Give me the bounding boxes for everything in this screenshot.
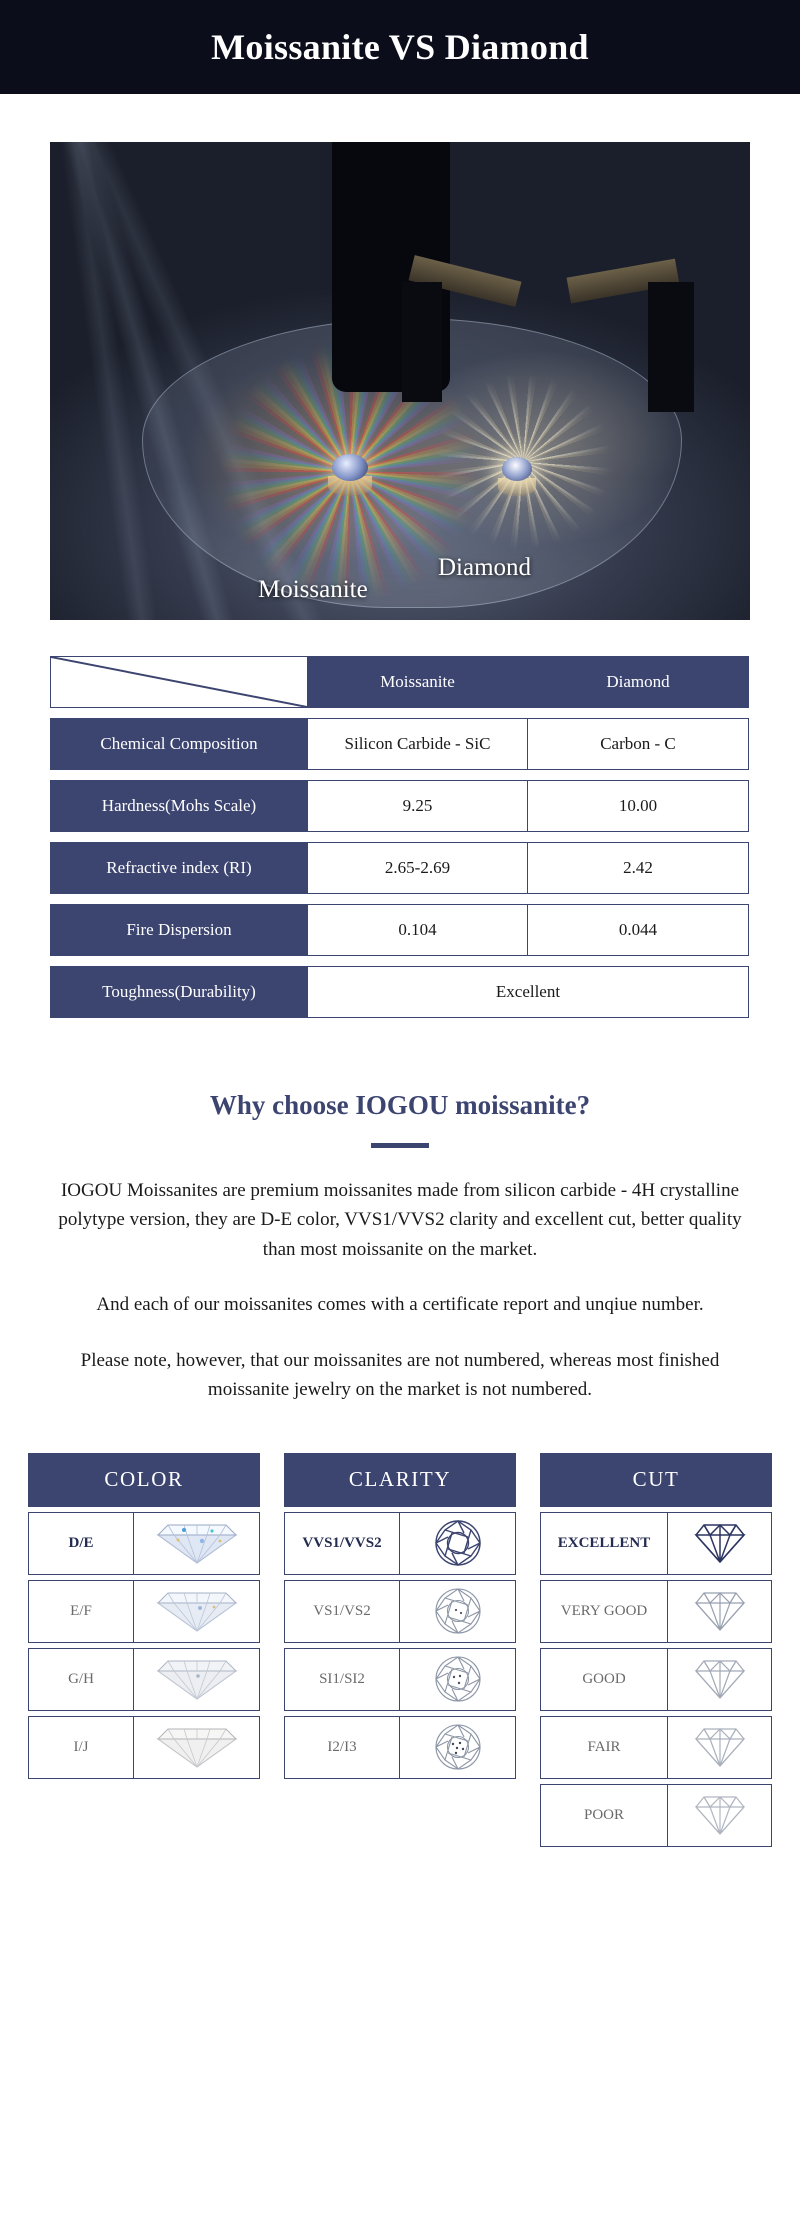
row-value-diamond: 10.00: [527, 780, 749, 832]
why-choose-section: Why choose IOGOU moissanite? IOGOU Moiss…: [0, 1028, 800, 1405]
row-label: Toughness(Durability): [50, 966, 308, 1018]
row-value-moissanite: Silicon Carbide - SiC: [307, 718, 528, 770]
diamond-outline-icon: [667, 1784, 772, 1847]
grade-row: VS1/VS2: [284, 1580, 516, 1643]
grade-table-cut: CUT EXCELLENT VERY GOOD: [540, 1453, 772, 1847]
grade-label: SI1/SI2: [284, 1648, 400, 1711]
diamond-side-view-icon: [133, 1512, 260, 1575]
row-value-shared: Excellent: [307, 966, 749, 1018]
grade-row: G/H: [28, 1648, 260, 1711]
grade-row: I2/I3: [284, 1716, 516, 1779]
hero-label-diamond: Diamond: [438, 554, 531, 582]
row-label: Refractive index (RI): [50, 842, 308, 894]
grade-row: POOR: [540, 1784, 772, 1847]
grade-row: I/J: [28, 1716, 260, 1779]
diagonal-divider-icon: [50, 656, 308, 708]
table-row: Refractive index (RI) 2.65-2.69 2.42: [50, 842, 750, 894]
diamond-side-view-icon: [133, 1580, 260, 1643]
grade-label: POOR: [540, 1784, 668, 1847]
moissanite-gem: [332, 454, 368, 481]
diamond-top-view-icon: [399, 1716, 516, 1779]
grade-row: VVS1/VVS2: [284, 1512, 516, 1575]
row-label: Fire Dispersion: [50, 904, 308, 956]
grade-label: FAIR: [540, 1716, 668, 1779]
page-header: Moissanite VS Diamond: [0, 0, 800, 94]
grade-row: EXCELLENT: [540, 1512, 772, 1575]
grade-label: EXCELLENT: [540, 1512, 668, 1575]
hero-section: Moissanite Diamond: [0, 94, 800, 620]
table-row: Hardness(Mohs Scale) 9.25 10.00: [50, 780, 750, 832]
grade-table-title: CLARITY: [284, 1453, 516, 1507]
table-header-row: Moissanite Diamond: [50, 656, 750, 708]
section-heading: Why choose IOGOU moissanite?: [50, 1090, 750, 1121]
grade-row: VERY GOOD: [540, 1580, 772, 1643]
diamond-outline-icon: [667, 1648, 772, 1711]
why-paragraph: IOGOU Moissanites are premium moissanite…: [50, 1176, 750, 1264]
row-value-diamond: Carbon - C: [527, 718, 749, 770]
diamond-outline-icon: [667, 1512, 772, 1575]
why-paragraph: Please note, however, that our moissanit…: [50, 1346, 750, 1405]
microscope-post-right: [648, 282, 694, 412]
diamond-side-view-icon: [133, 1648, 260, 1711]
grade-table-title: COLOR: [28, 1453, 260, 1507]
row-value-diamond: 2.42: [527, 842, 749, 894]
column-header-moissanite: Moissanite: [307, 656, 528, 708]
grade-label: I/J: [28, 1716, 134, 1779]
page-title: Moissanite VS Diamond: [211, 26, 589, 68]
column-header-diamond: Diamond: [527, 656, 749, 708]
grade-row: GOOD: [540, 1648, 772, 1711]
row-value-moissanite: 2.65-2.69: [307, 842, 528, 894]
diamond-gem: [502, 457, 532, 481]
why-paragraph: And each of our moissanites comes with a…: [50, 1290, 750, 1319]
grade-row: E/F: [28, 1580, 260, 1643]
grade-table-color: COLOR D/E E/F: [28, 1453, 260, 1847]
diamond-top-view-icon: [399, 1648, 516, 1711]
hero-label-moissanite: Moissanite: [258, 576, 368, 604]
row-value-diamond: 0.044: [527, 904, 749, 956]
grade-label: VERY GOOD: [540, 1580, 668, 1643]
grade-table-clarity: CLARITY VVS1/VVS2 VS1/VS2: [284, 1453, 516, 1847]
grade-label: VS1/VS2: [284, 1580, 400, 1643]
grade-label: GOOD: [540, 1648, 668, 1711]
row-label: Chemical Composition: [50, 718, 308, 770]
hero-photo-moissanite-vs-diamond: Moissanite Diamond: [50, 142, 750, 620]
microscope-post-left: [402, 282, 442, 402]
grading-charts: COLOR D/E E/F: [0, 1405, 800, 1887]
table-row: Fire Dispersion 0.104 0.044: [50, 904, 750, 956]
grade-label: G/H: [28, 1648, 134, 1711]
table-row: Toughness(Durability) Excellent: [50, 966, 750, 1018]
comparison-table: Moissanite Diamond Chemical Composition …: [0, 620, 800, 1018]
table-row: Chemical Composition Silicon Carbide - S…: [50, 718, 750, 770]
grade-label: D/E: [28, 1512, 134, 1575]
row-label: Hardness(Mohs Scale): [50, 780, 308, 832]
grade-label: E/F: [28, 1580, 134, 1643]
diamond-outline-icon: [667, 1716, 772, 1779]
grade-table-title: CUT: [540, 1453, 772, 1507]
grade-row: FAIR: [540, 1716, 772, 1779]
row-value-moissanite: 0.104: [307, 904, 528, 956]
grade-row: SI1/SI2: [284, 1648, 516, 1711]
grade-label: I2/I3: [284, 1716, 400, 1779]
diamond-outline-icon: [667, 1580, 772, 1643]
diamond-side-view-icon: [133, 1716, 260, 1779]
diamond-top-view-icon: [399, 1512, 516, 1575]
grade-row: D/E: [28, 1512, 260, 1575]
diamond-top-view-icon: [399, 1580, 516, 1643]
grade-label: VVS1/VVS2: [284, 1512, 400, 1575]
row-value-moissanite: 9.25: [307, 780, 528, 832]
heading-underline: [371, 1143, 429, 1148]
